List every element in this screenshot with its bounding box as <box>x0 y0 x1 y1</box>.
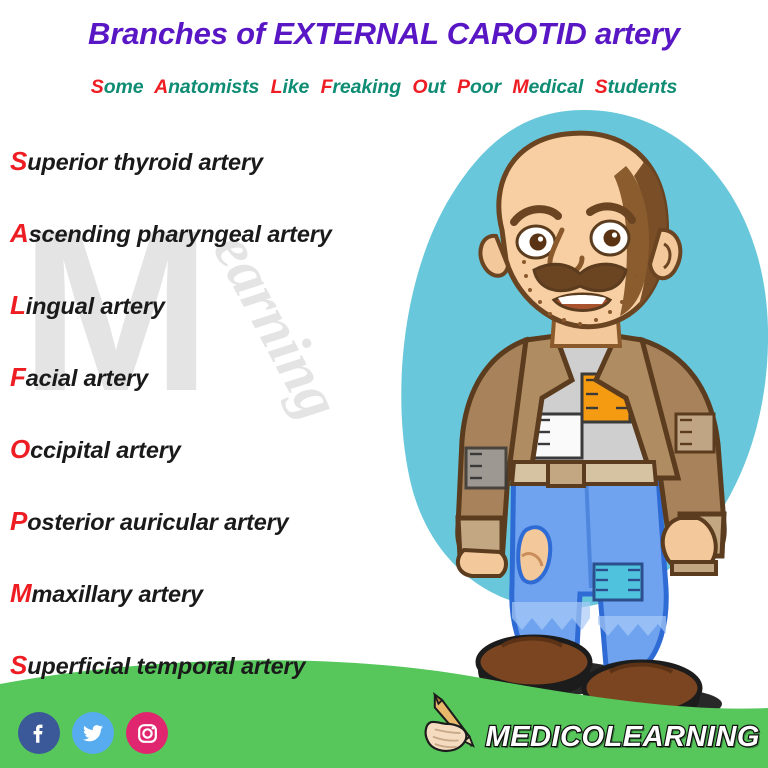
list-item: Superior thyroid artery <box>10 125 460 197</box>
branch-initial: S <box>10 146 27 176</box>
mnemonic-initial: A <box>154 76 168 98</box>
mnemonic-rest: tudents <box>607 76 677 98</box>
list-item: Posterior auricular artery <box>10 485 460 557</box>
branch-initial: A <box>10 218 29 248</box>
mnemonic-word: Out <box>407 76 446 98</box>
mnemonic-initial: L <box>271 76 283 98</box>
branch-label: ingual artery <box>26 293 165 319</box>
mnemonic-rest: ut <box>427 76 445 98</box>
branch-label: maxillary artery <box>32 581 203 607</box>
branch-initial: P <box>10 506 27 536</box>
list-item: Superficial temporal artery <box>10 629 460 701</box>
mnemonic-initial: M <box>512 76 528 98</box>
page-title: Branches of EXTERNAL CAROTID artery <box>0 16 768 52</box>
mnemonic-initial: P <box>457 76 470 98</box>
branch-label: uperior thyroid artery <box>27 149 263 175</box>
branch-list: Superior thyroid artery Ascending pharyn… <box>10 125 460 701</box>
brand-logo: MEDICOLEARNING <box>422 691 760 760</box>
mnemonic-initial: S <box>595 76 608 98</box>
mnemonic-initial: S <box>91 76 104 98</box>
mnemonic-rest: ome <box>104 76 144 98</box>
list-item: Ascending pharyngeal artery <box>10 197 460 269</box>
branch-initial: L <box>10 290 26 320</box>
mnemonic-line: Some Anatomists Like Freaking Out Poor M… <box>0 76 768 99</box>
mnemonic-initial: O <box>412 76 427 98</box>
mnemonic-word: Medical <box>507 76 583 98</box>
branch-initial: M <box>10 578 32 608</box>
poster-canvas: M earning <box>0 0 768 768</box>
twitter-icon[interactable] <box>72 712 114 754</box>
hand-with-pencil-icon <box>422 691 486 760</box>
list-item: Lingual artery <box>10 269 460 341</box>
mnemonic-word: Some <box>91 76 144 98</box>
branch-label: scending pharyngeal artery <box>29 221 332 247</box>
branch-initial: S <box>10 650 27 680</box>
brand-name: MEDICOLEARNING <box>486 723 760 760</box>
mnemonic-rest: oor <box>470 76 501 98</box>
branch-label: osterior auricular artery <box>27 509 288 535</box>
facebook-icon[interactable] <box>18 712 60 754</box>
branch-label: ccipital artery <box>30 437 181 463</box>
poor-man-illustration <box>430 118 760 718</box>
mnemonic-word: Anatomists <box>150 76 260 98</box>
mnemonic-rest: natomists <box>168 76 259 98</box>
mnemonic-rest: edical <box>529 76 584 98</box>
branch-label: acial artery <box>26 365 148 391</box>
mnemonic-initial: F <box>321 76 333 98</box>
branch-label: uperficial temporal artery <box>27 653 305 679</box>
mnemonic-word: Students <box>589 76 677 98</box>
mnemonic-word: Poor <box>452 76 501 98</box>
mnemonic-word: Like <box>265 76 309 98</box>
mnemonic-rest: reaking <box>332 76 401 98</box>
instagram-icon[interactable] <box>126 712 168 754</box>
list-item: Facial artery <box>10 341 460 413</box>
branch-initial: F <box>10 362 26 392</box>
social-links <box>18 712 168 754</box>
list-item: Occipital artery <box>10 413 460 485</box>
mnemonic-word: Freaking <box>315 76 401 98</box>
list-item: Mmaxillary artery <box>10 557 460 629</box>
mnemonic-rest: ike <box>282 76 309 98</box>
branch-initial: O <box>10 434 30 464</box>
